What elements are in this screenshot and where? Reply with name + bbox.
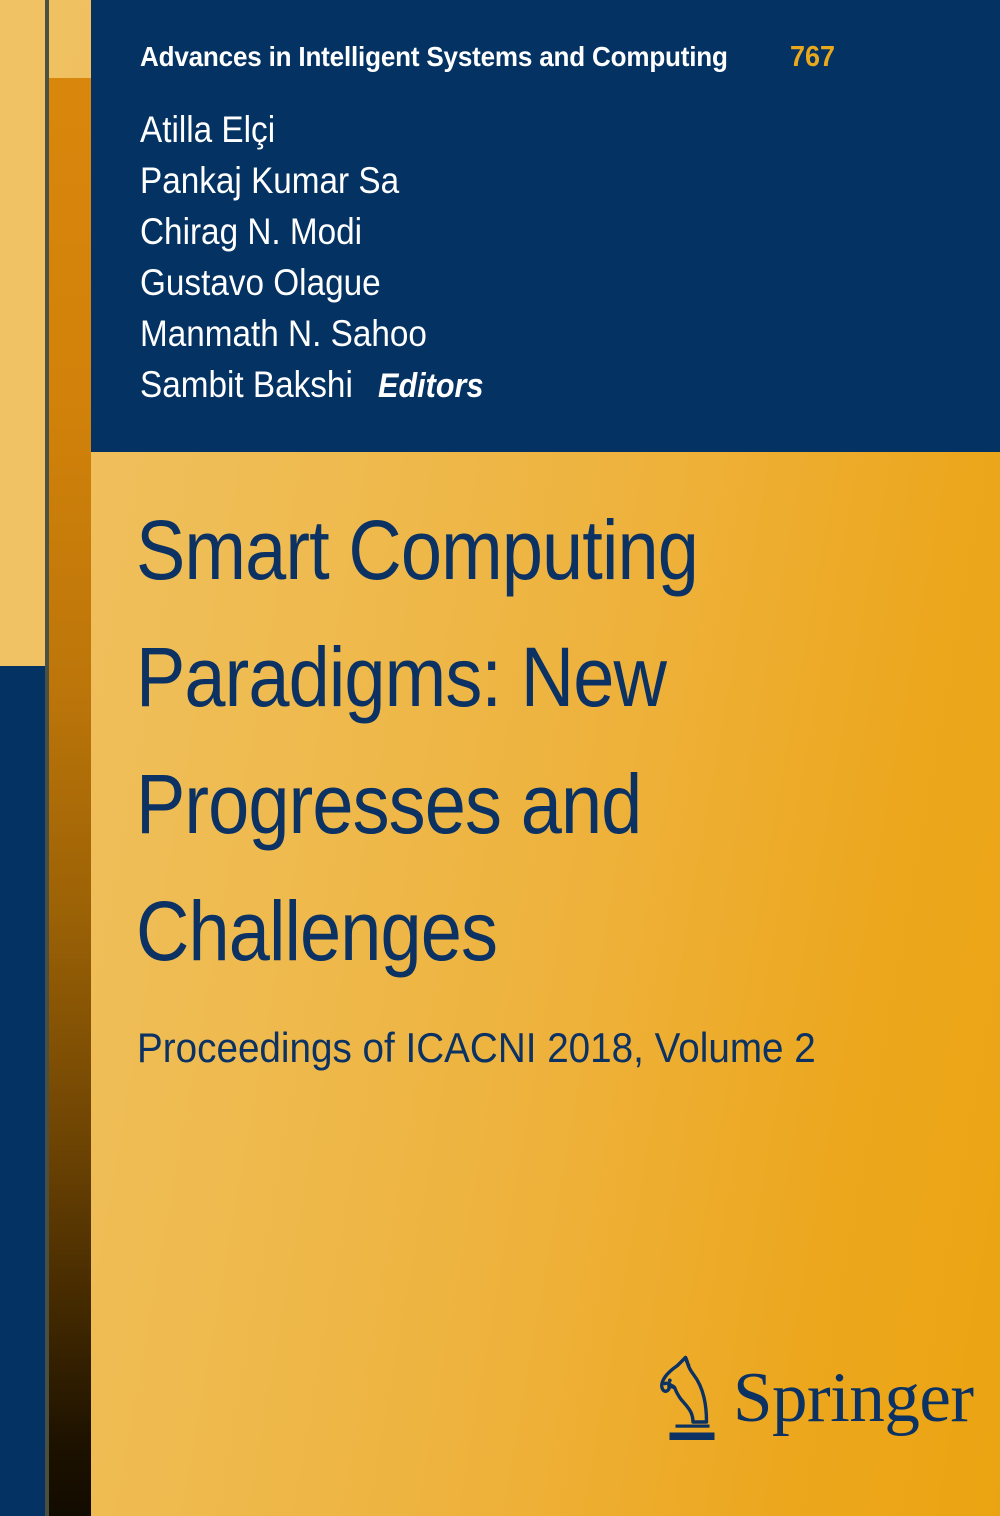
series-volume-number: 767 bbox=[790, 41, 835, 74]
title-line: Progresses and bbox=[136, 741, 866, 868]
series-title: Advances in Intelligent Systems and Comp… bbox=[140, 41, 728, 73]
editor-name: Gustavo Olague bbox=[140, 257, 770, 308]
book-subtitle: Proceedings of ICACNI 2018, Volume 2 bbox=[137, 1024, 816, 1072]
editor-name: Chirag N. Modi bbox=[140, 206, 770, 257]
publisher-logo: Springer bbox=[655, 1352, 974, 1444]
editor-name: Manmath N. Sahoo bbox=[140, 308, 770, 359]
spine-outer-strip-upper bbox=[0, 0, 45, 666]
title-line: Paradigms: New bbox=[136, 614, 866, 741]
publisher-name: Springer bbox=[733, 1363, 974, 1434]
editor-name: Atilla Elçi bbox=[140, 104, 770, 155]
book-title: Smart Computing Paradigms: New Progresse… bbox=[136, 487, 966, 995]
springer-knight-icon bbox=[655, 1352, 721, 1444]
spine-outer-strip-lower bbox=[0, 666, 45, 1516]
editor-name: Sambit Bakshi bbox=[140, 359, 353, 410]
editor-name: Pankaj Kumar Sa bbox=[140, 155, 770, 206]
spine-orange-gradient-strip bbox=[49, 78, 91, 1516]
book-cover: Advances in Intelligent Systems and Comp… bbox=[0, 0, 1000, 1516]
editors-role-label: Editors bbox=[378, 361, 483, 412]
series-line: Advances in Intelligent Systems and Comp… bbox=[140, 41, 838, 74]
editors-list: Atilla Elçi Pankaj Kumar Sa Chirag N. Mo… bbox=[140, 104, 840, 412]
editor-name-with-role: Sambit Bakshi Editors bbox=[140, 359, 770, 412]
title-line: Challenges bbox=[136, 868, 866, 995]
title-line: Smart Computing bbox=[136, 487, 866, 614]
